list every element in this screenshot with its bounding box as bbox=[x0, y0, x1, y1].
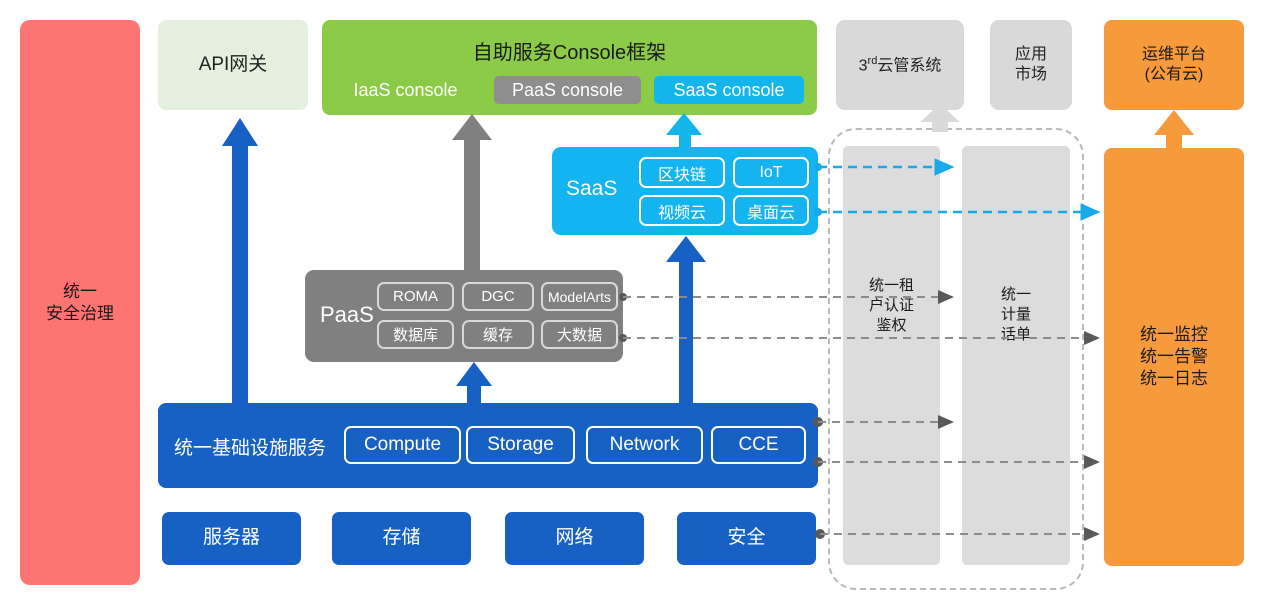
unified-metering-line3: 话单 bbox=[962, 325, 1070, 345]
self-service-console-frame: 自助服务Console框架 IaaS console PaaS console … bbox=[322, 20, 817, 115]
infra-item-network[interactable]: Network bbox=[586, 426, 703, 464]
arrow-infra-to-saas bbox=[666, 236, 706, 403]
infra-item-cce-label: CCE bbox=[738, 434, 778, 456]
third-party-cloud-mgmt-block: 3rd云管系统 bbox=[836, 20, 964, 110]
iaas-console-label: IaaS console bbox=[353, 80, 457, 101]
paas-item-bigdata[interactable]: 大数据 bbox=[541, 320, 618, 349]
saas-item-iot[interactable]: IoT bbox=[733, 157, 809, 188]
third-party-sup-number: 3 bbox=[859, 57, 868, 74]
saas-item-video-cloud[interactable]: 视频云 bbox=[639, 195, 725, 226]
third-party-cloud-mgmt-label: 3rd云管系统 bbox=[859, 54, 942, 77]
saas-item-blockchain[interactable]: 区块链 bbox=[639, 157, 725, 188]
unified-ops-column: 统一监控 统一告警 统一日志 bbox=[1104, 148, 1244, 566]
saas-item-iot-label: IoT bbox=[759, 164, 782, 182]
paas-item-cache[interactable]: 缓存 bbox=[462, 320, 534, 349]
api-gateway-label: API网关 bbox=[199, 53, 268, 77]
infra-item-cce[interactable]: CCE bbox=[711, 426, 806, 464]
saas-item-video-cloud-label: 视频云 bbox=[658, 199, 706, 223]
paas-item-dgc-label: DGC bbox=[481, 288, 514, 305]
unified-ops-line1: 统一监控 bbox=[1140, 324, 1208, 346]
unified-tenant-auth-line1: 统一租 bbox=[843, 276, 940, 296]
paas-console-label: PaaS console bbox=[512, 80, 623, 101]
infra-item-storage[interactable]: Storage bbox=[466, 426, 575, 464]
paas-item-roma-label: ROMA bbox=[393, 288, 438, 305]
app-market-line2: 市场 bbox=[1015, 65, 1047, 85]
unified-tenant-auth-line3: 鉴权 bbox=[843, 316, 940, 336]
api-gateway-block: API网关 bbox=[158, 20, 308, 110]
arrow-infra-to-api-gateway bbox=[222, 118, 258, 403]
security-governance-line1: 统一 bbox=[63, 281, 97, 303]
resource-server-block: 服务器 bbox=[162, 512, 301, 565]
ops-platform-line1: 运维平台 bbox=[1142, 45, 1206, 65]
saas-label: SaaS bbox=[566, 177, 617, 201]
arrow-paas-to-console bbox=[452, 114, 492, 272]
unified-infrastructure-label: 统一基础设施服务 bbox=[174, 433, 326, 460]
paas-item-database[interactable]: 数据库 bbox=[377, 320, 454, 349]
third-party-rest: 云管系统 bbox=[877, 57, 941, 74]
app-market-line1: 应用 bbox=[1015, 45, 1047, 65]
arrow-saas-to-console bbox=[666, 113, 702, 147]
paas-item-cache-label: 缓存 bbox=[483, 324, 513, 345]
resource-server-label: 服务器 bbox=[203, 526, 260, 550]
resource-network-label: 网络 bbox=[555, 526, 593, 550]
paas-block: PaaS ROMA DGC ModelArts 数据库 缓存 大数据 bbox=[305, 270, 623, 362]
unified-tenant-auth-label: 统一租 户认证 鉴权 bbox=[843, 276, 940, 336]
paas-console-chip[interactable]: PaaS console bbox=[494, 76, 641, 104]
unified-metering-label: 统一 计量 话单 bbox=[962, 285, 1070, 345]
paas-item-dgc[interactable]: DGC bbox=[462, 282, 534, 311]
ops-platform-public-cloud-block: 运维平台 (公有云) bbox=[1104, 20, 1244, 110]
app-market-block: 应用 市场 bbox=[990, 20, 1072, 110]
paas-item-modelarts-label: ModelArts bbox=[548, 289, 611, 305]
saas-item-blockchain-label: 区块链 bbox=[658, 161, 706, 185]
saas-item-desktop-cloud[interactable]: 桌面云 bbox=[733, 195, 809, 226]
unified-ops-line3: 统一日志 bbox=[1140, 368, 1208, 390]
saas-console-chip[interactable]: SaaS console bbox=[654, 76, 804, 104]
ops-platform-line2: (公有云) bbox=[1145, 65, 1204, 85]
saas-block: SaaS 区块链 IoT 视频云 桌面云 bbox=[552, 147, 818, 235]
arrow-ops-column-to-ops-platform bbox=[1154, 110, 1194, 148]
unified-metering-line1: 统一 bbox=[962, 285, 1070, 305]
unified-tenant-auth-line2: 户认证 bbox=[843, 296, 940, 316]
infra-item-network-label: Network bbox=[610, 434, 680, 456]
unified-metering-line2: 计量 bbox=[962, 305, 1070, 325]
security-governance-line2: 安全治理 bbox=[46, 303, 114, 325]
infra-item-storage-label: Storage bbox=[487, 434, 554, 456]
paas-label: PaaS bbox=[320, 302, 374, 328]
security-governance-block: 统一 安全治理 bbox=[20, 20, 140, 585]
third-party-sup-suffix: rd bbox=[868, 55, 878, 67]
paas-item-database-label: 数据库 bbox=[393, 324, 438, 345]
console-title: 自助服务Console框架 bbox=[322, 36, 817, 65]
architecture-diagram: 统一 安全治理 API网关 自助服务Console框架 IaaS console… bbox=[0, 0, 1265, 605]
resource-network-block: 网络 bbox=[505, 512, 644, 565]
arrow-infra-to-paas bbox=[456, 362, 492, 403]
infra-item-compute[interactable]: Compute bbox=[344, 426, 461, 464]
paas-item-modelarts[interactable]: ModelArts bbox=[541, 282, 618, 311]
resource-storage-block: 存储 bbox=[332, 512, 471, 565]
infra-item-compute-label: Compute bbox=[364, 434, 441, 456]
unified-metering-column bbox=[962, 146, 1070, 565]
unified-tenant-auth-column bbox=[843, 146, 940, 565]
saas-item-desktop-cloud-label: 桌面云 bbox=[747, 199, 795, 223]
paas-item-roma[interactable]: ROMA bbox=[377, 282, 454, 311]
resource-security-block: 安全 bbox=[677, 512, 816, 565]
resource-security-label: 安全 bbox=[727, 526, 765, 550]
iaas-console-chip[interactable]: IaaS console bbox=[334, 76, 477, 104]
unified-infrastructure-block: 统一基础设施服务 Compute Storage Network CCE bbox=[158, 403, 818, 488]
resource-storage-label: 存储 bbox=[382, 526, 420, 550]
unified-ops-line2: 统一告警 bbox=[1140, 346, 1208, 368]
paas-item-bigdata-label: 大数据 bbox=[557, 324, 602, 345]
saas-console-label: SaaS console bbox=[673, 80, 784, 101]
